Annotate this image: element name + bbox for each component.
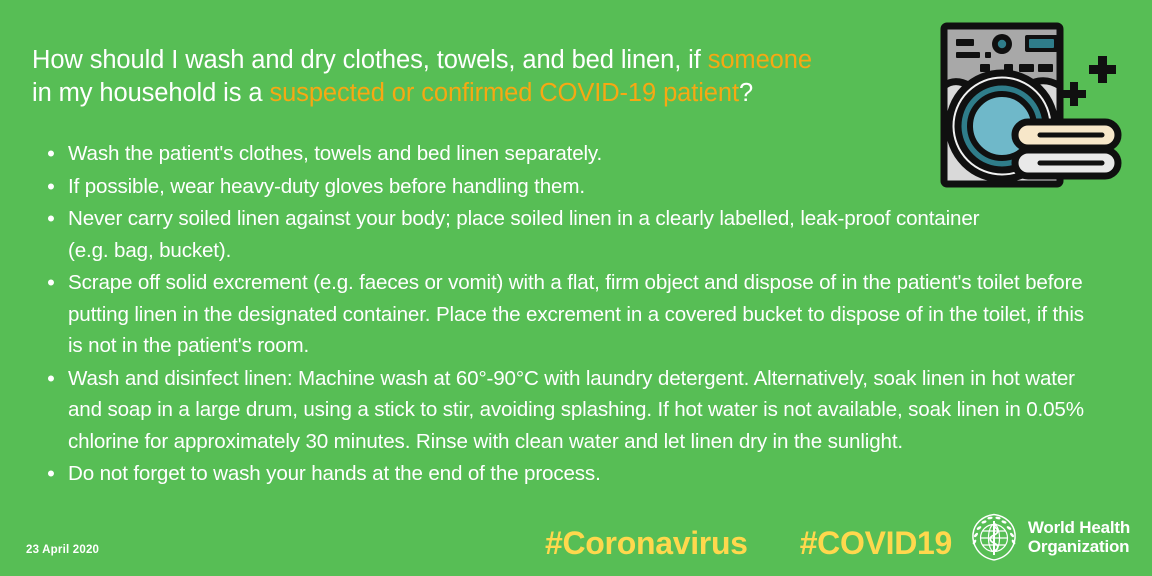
list-item: • Never carry soiled linen against your … <box>30 203 1105 266</box>
title-line2-highlight: suspected or confirmed COVID-19 patient <box>269 79 739 107</box>
sparkle-icon <box>1062 56 1116 106</box>
date-stamp: 23 April 2020 <box>26 544 99 556</box>
bullet-marker-icon: • <box>30 171 68 203</box>
who-emblem-icon <box>969 512 1019 562</box>
title-line1-plain: How should I wash and dry clothes, towel… <box>32 46 708 74</box>
title-line1-highlight: someone <box>708 46 812 74</box>
bullet-marker-icon: • <box>30 138 68 170</box>
bullet-text: Wash and disinfect linen: Machine wash a… <box>68 363 1103 458</box>
list-item: • Do not forget to wash your hands at th… <box>30 458 1105 490</box>
bullet-text: Wash the patient's clothes, towels and b… <box>68 138 828 170</box>
folded-towels-icon <box>1015 122 1118 176</box>
list-item: • Wash and disinfect linen: Machine wash… <box>30 363 1105 458</box>
bullet-text: Never carry soiled linen against your bo… <box>68 203 1003 266</box>
list-item: • Scrape off solid excrement (e.g. faece… <box>30 267 1105 362</box>
bullet-marker-icon: • <box>30 267 68 299</box>
bullet-marker-icon: • <box>30 458 68 490</box>
who-wordmark-line2: Organization <box>1028 537 1130 556</box>
title-line2-plain: in my household is a <box>32 79 269 107</box>
page-title: How should I wash and dry clothes, towel… <box>32 44 957 110</box>
washing-machine-illustration <box>930 8 1145 200</box>
who-logo: World Health Organization <box>969 512 1130 562</box>
bullet-text: Do not forget to wash your hands at the … <box>68 458 828 490</box>
bullet-marker-icon: • <box>30 363 68 395</box>
bullet-text: If possible, wear heavy-duty gloves befo… <box>68 171 828 203</box>
bullet-text: Scrape off solid excrement (e.g. faeces … <box>68 267 1103 362</box>
who-wordmark-line1: World Health <box>1028 518 1130 537</box>
hashtag-coronavirus: #Coronavirus <box>545 525 748 562</box>
bullet-marker-icon: • <box>30 203 68 235</box>
title-question-mark: ? <box>739 79 753 107</box>
hashtag-covid19: #COVID19 <box>800 525 952 562</box>
who-wordmark: World Health Organization <box>1028 518 1130 556</box>
hashtag-group: #Coronavirus #COVID19 <box>545 525 952 562</box>
